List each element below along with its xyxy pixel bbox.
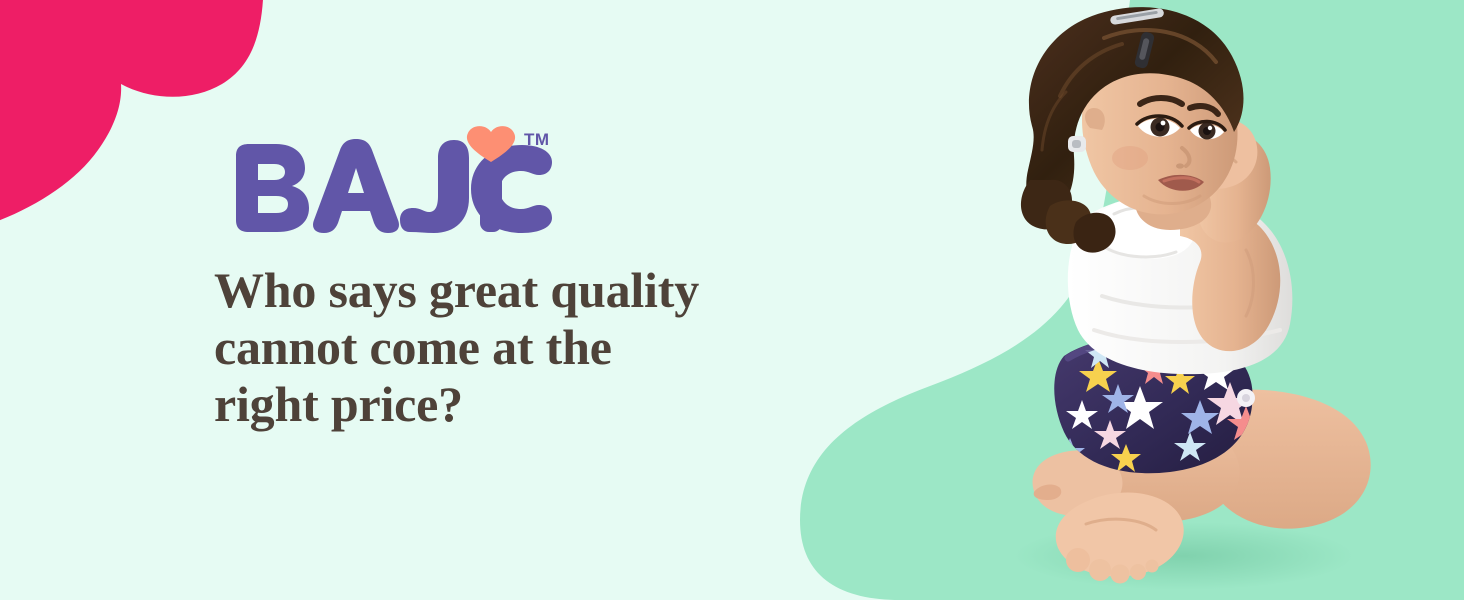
headline-text: Who says great quality cannot come at th… xyxy=(214,262,854,433)
hair-clip-lower xyxy=(1068,136,1086,152)
basic-logo: TM xyxy=(228,128,558,228)
toddler-photo xyxy=(994,0,1464,600)
promo-banner: TM Who says great quality cannot come at… xyxy=(0,0,1464,600)
trademark-symbol: TM xyxy=(524,130,550,150)
cheek xyxy=(1112,146,1148,170)
